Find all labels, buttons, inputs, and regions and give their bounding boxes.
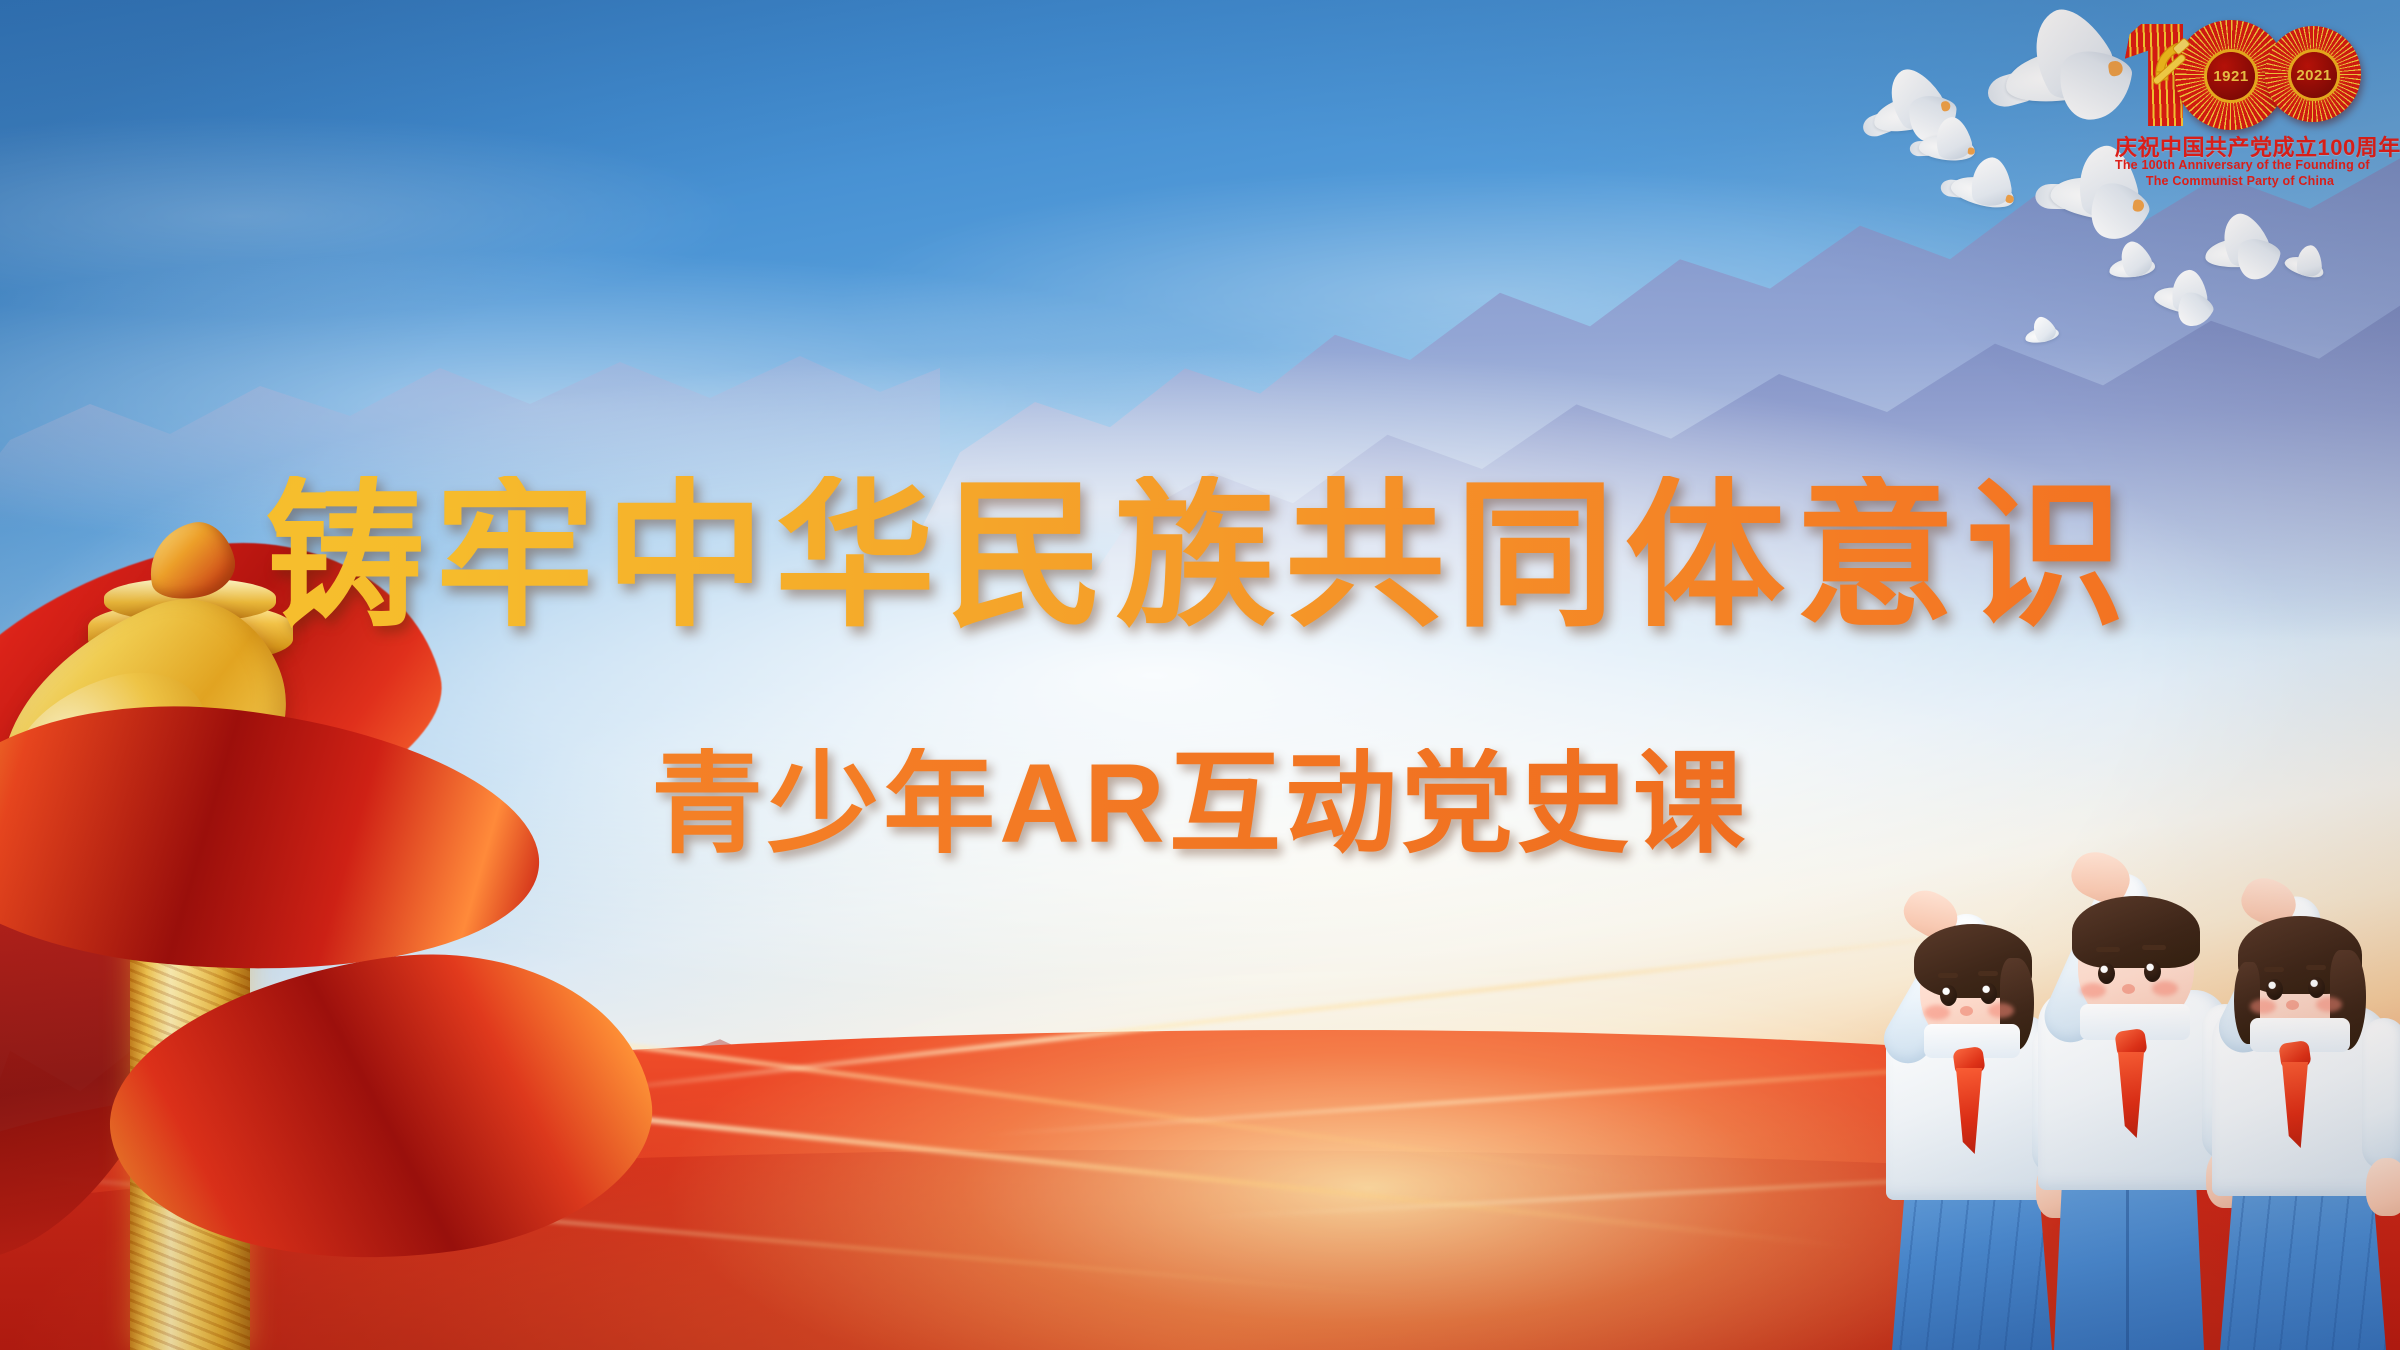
vignette-overlay bbox=[0, 0, 2400, 1350]
poster-canvas: 铸牢中华民族共同体意识 青少年AR互动党史课 1921 2021 庆祝中国共产党… bbox=[0, 0, 2400, 1350]
